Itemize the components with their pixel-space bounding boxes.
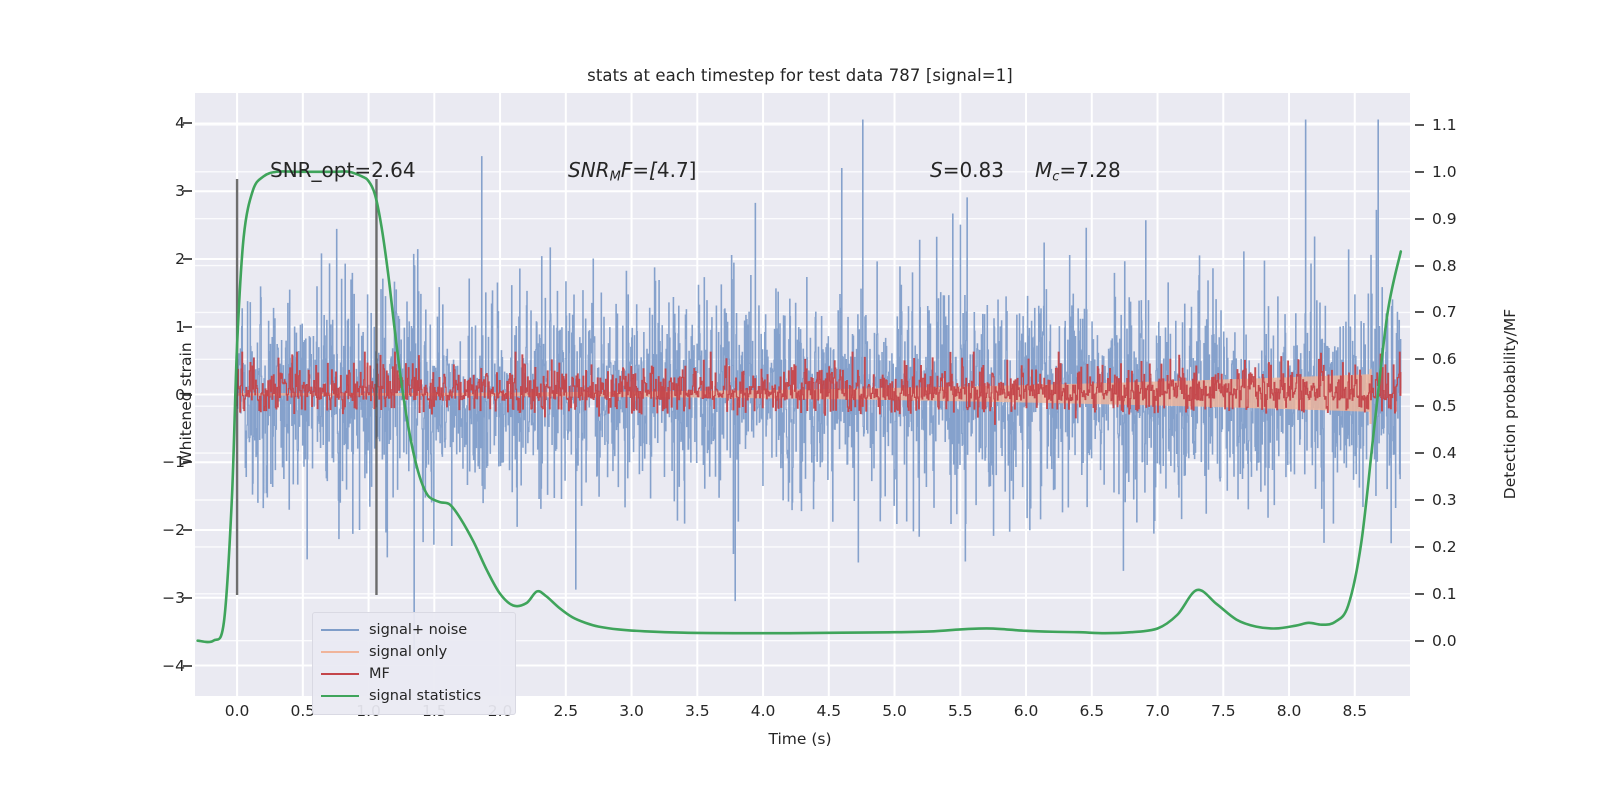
x-axis-tick-label: 2.5 xyxy=(531,702,601,720)
y-axis-left-tick-mark xyxy=(183,122,192,124)
y-axis-right-tick-label: 0.5 xyxy=(1432,397,1512,415)
x-axis-label: Time (s) xyxy=(0,730,1600,748)
legend-label: MF xyxy=(369,667,390,682)
x-axis-tick-label: 7.5 xyxy=(1188,702,1258,720)
y-axis-left-tick-label: −1 xyxy=(105,453,185,471)
y-axis-right-label: Detection probability/MF xyxy=(1501,204,1519,604)
y-axis-right-tick-mark xyxy=(1415,640,1424,642)
y-axis-right-tick-label: 0.1 xyxy=(1432,585,1512,603)
y-axis-left-tick-label: −4 xyxy=(105,657,185,675)
y-axis-right-tick-label: 0.2 xyxy=(1432,538,1512,556)
x-axis-tick-label: 5.5 xyxy=(925,702,995,720)
y-axis-right-tick-mark xyxy=(1415,546,1424,548)
y-axis-right-tick-label: 0.7 xyxy=(1432,303,1512,321)
y-axis-left-tick-label: 2 xyxy=(105,250,185,268)
legend-swatch-line xyxy=(321,673,359,675)
y-axis-right-tick-label: 0.4 xyxy=(1432,444,1512,462)
y-axis-left-tick-label: −2 xyxy=(105,521,185,539)
x-axis-tick-label: 8.0 xyxy=(1254,702,1324,720)
x-axis-tick-label: 6.5 xyxy=(1057,702,1127,720)
annotation-snr-opt: SNR_opt=2.64 xyxy=(270,158,416,182)
y-axis-right-tick-label: 0.3 xyxy=(1432,491,1512,509)
x-axis-tick-label: 3.5 xyxy=(662,702,732,720)
y-axis-right-tick-mark xyxy=(1415,124,1424,126)
y-axis-right-tick-mark xyxy=(1415,452,1424,454)
legend-label: signal+ noise xyxy=(369,623,467,638)
y-axis-right-tick-label: 1.0 xyxy=(1432,163,1512,181)
chart-legend[interactable]: signal+ noisesignal onlyMFsignal statist… xyxy=(312,612,516,715)
legend-item[interactable]: signal statistics xyxy=(321,685,507,707)
y-axis-right-tick-label: 0.8 xyxy=(1432,257,1512,275)
legend-item[interactable]: MF xyxy=(321,663,507,685)
y-axis-left-tick-mark xyxy=(183,665,192,667)
x-axis-tick-label: 0.0 xyxy=(202,702,272,720)
figure-canvas: stats at each timestep for test data 787… xyxy=(0,0,1600,800)
chart-title: stats at each timestep for test data 787… xyxy=(0,66,1600,85)
y-axis-right-tick-label: 0.6 xyxy=(1432,350,1512,368)
y-axis-left-label: Whitened strain xyxy=(177,204,195,604)
y-axis-left-tick-label: 4 xyxy=(105,114,185,132)
legend-item[interactable]: signal+ noise xyxy=(321,619,507,641)
legend-swatch-line xyxy=(321,651,359,653)
x-axis-tick-label: 3.0 xyxy=(597,702,667,720)
y-axis-right-tick-mark xyxy=(1415,593,1424,595)
x-axis-tick-label: 4.5 xyxy=(794,702,864,720)
y-axis-right-tick-label: 1.1 xyxy=(1432,116,1512,134)
y-axis-right-tick-mark xyxy=(1415,265,1424,267)
y-axis-right-tick-label: 0.0 xyxy=(1432,632,1512,650)
annotation-snr-mf: SNRMF=[4.7] xyxy=(568,158,696,185)
legend-item[interactable]: signal only xyxy=(321,641,507,663)
plot-svg xyxy=(195,93,1410,696)
legend-label: signal only xyxy=(369,645,447,660)
x-axis-tick-label: 6.0 xyxy=(991,702,1061,720)
y-axis-left-tick-label: 1 xyxy=(105,318,185,336)
y-axis-right-tick-mark xyxy=(1415,171,1424,173)
y-axis-right-tick-mark xyxy=(1415,405,1424,407)
legend-swatch-line xyxy=(321,695,359,697)
y-axis-left-tick-label: 0 xyxy=(105,386,185,404)
y-axis-right-tick-mark xyxy=(1415,218,1424,220)
plot-area xyxy=(195,93,1410,696)
legend-swatch-line xyxy=(321,629,359,631)
legend-label: signal statistics xyxy=(369,689,481,704)
x-axis-tick-label: 8.5 xyxy=(1320,702,1390,720)
annotation-s: S=0.83 xyxy=(930,158,1004,182)
y-axis-left-tick-mark xyxy=(183,190,192,192)
x-axis-tick-label: 4.0 xyxy=(728,702,798,720)
x-axis-tick-label: 7.0 xyxy=(1123,702,1193,720)
y-axis-left-tick-label: −3 xyxy=(105,589,185,607)
y-axis-right-tick-label: 0.9 xyxy=(1432,210,1512,228)
y-axis-left-tick-label: 3 xyxy=(105,182,185,200)
y-axis-right-tick-mark xyxy=(1415,358,1424,360)
y-axis-right-tick-mark xyxy=(1415,499,1424,501)
annotation-mc: Mc=7.28 xyxy=(1035,158,1121,185)
x-axis-tick-label: 5.0 xyxy=(860,702,930,720)
y-axis-right-tick-mark xyxy=(1415,311,1424,313)
